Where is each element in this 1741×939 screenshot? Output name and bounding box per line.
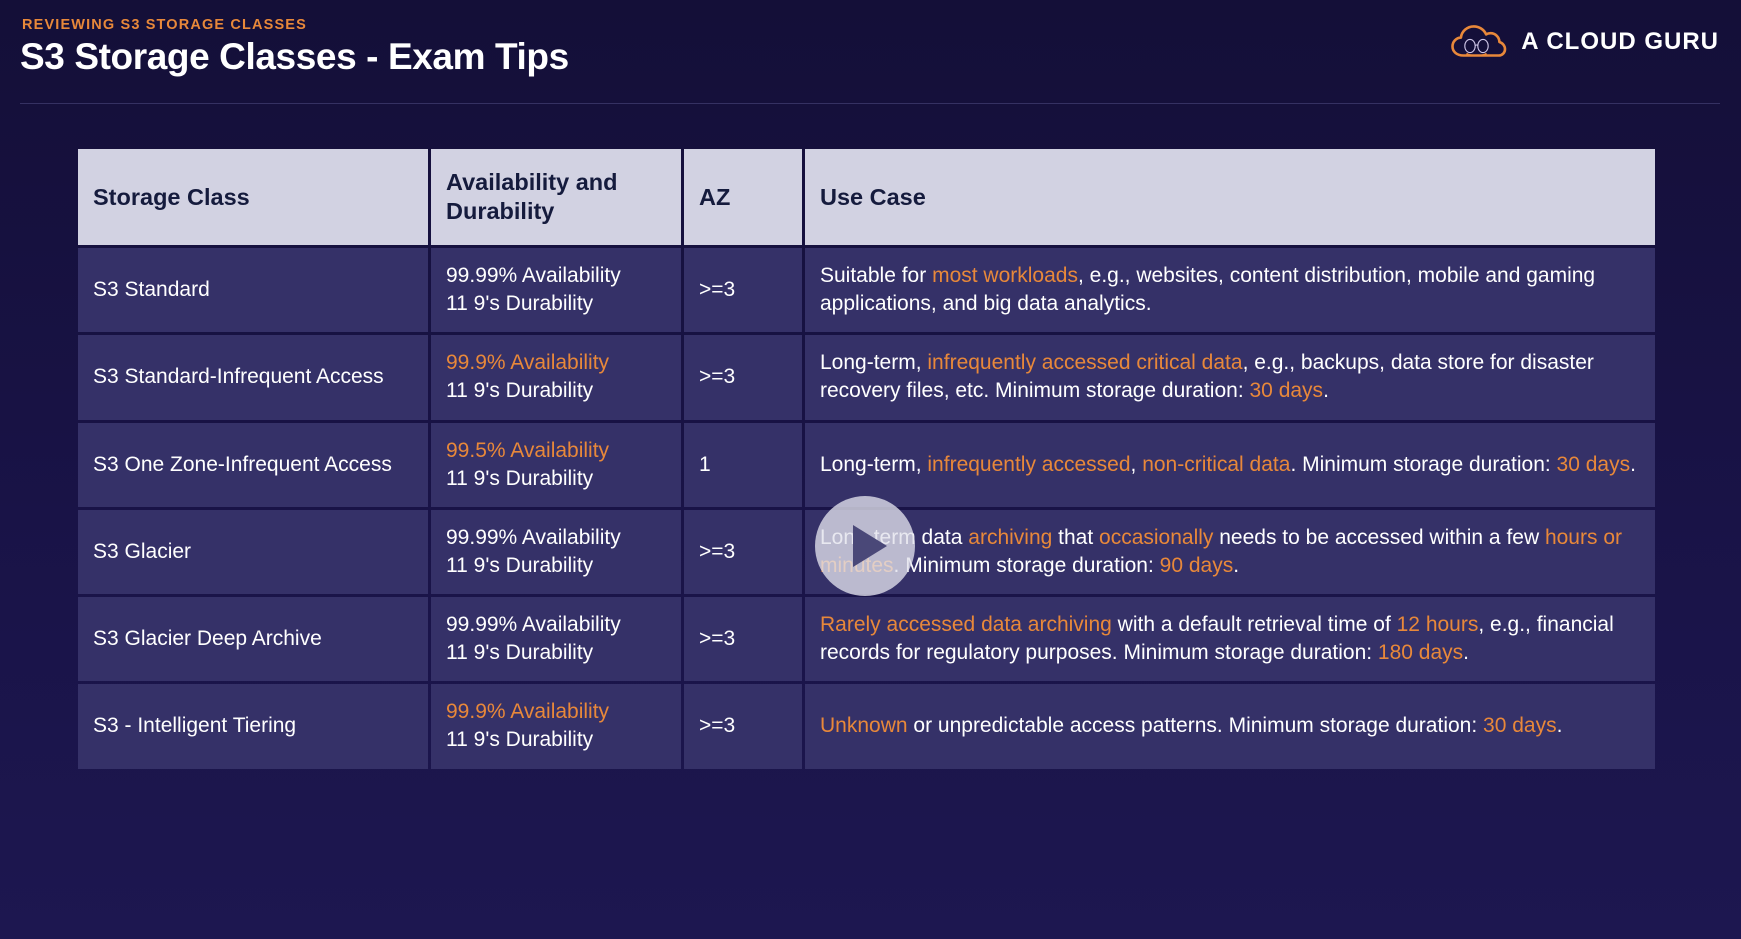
cell-az: 1 xyxy=(684,423,802,507)
use-case-highlight: Rarely accessed data archiving xyxy=(820,613,1112,636)
column-header-az: AZ xyxy=(684,149,802,245)
use-case-text: Long-term, xyxy=(820,453,927,476)
use-case-highlight: archiving xyxy=(968,526,1052,549)
availability-value: 99.99% Availability xyxy=(446,262,666,290)
page-title: S3 Storage Classes - Exam Tips xyxy=(20,36,569,78)
cell-storage-class: S3 Standard xyxy=(78,248,428,332)
durability-value: 11 9's Durability xyxy=(446,290,666,318)
use-case-text: . xyxy=(1323,379,1329,402)
use-case-text: . xyxy=(1557,714,1563,737)
cell-storage-class: S3 Glacier Deep Archive xyxy=(78,597,428,681)
use-case-text: . xyxy=(1630,453,1636,476)
cell-use-case: Long-term data archiving that occasional… xyxy=(805,510,1655,594)
cell-storage-class: S3 Glacier xyxy=(78,510,428,594)
storage-class-table-wrapper: Storage Class Availability and Durabilit… xyxy=(75,146,1655,772)
play-button[interactable] xyxy=(815,496,915,596)
brand-lockup: A CLOUD GURU xyxy=(1450,22,1719,62)
cell-use-case: Rarely accessed data archiving with a de… xyxy=(805,597,1655,681)
play-icon xyxy=(853,525,887,567)
use-case-text: . Minimum storage duration: xyxy=(894,554,1160,577)
cell-use-case: Long-term, infrequently accessed, non-cr… xyxy=(805,423,1655,507)
cell-storage-class: S3 - Intelligent Tiering xyxy=(78,684,428,768)
table-row: S3 Standard-Infrequent Access99.9% Avail… xyxy=(78,335,1655,419)
slide-eyebrow: REVIEWING S3 STORAGE CLASSES xyxy=(22,17,307,33)
table-row: S3 One Zone-Infrequent Access99.5% Avail… xyxy=(78,423,1655,507)
cell-availability-durability: 99.9% Availability11 9's Durability xyxy=(431,335,681,419)
use-case-text: Long-term, xyxy=(820,351,927,374)
use-case-highlight: Unknown xyxy=(820,714,908,737)
brand-name: A CLOUD GURU xyxy=(1521,28,1719,56)
use-case-text: with a default retrieval time of xyxy=(1112,613,1397,636)
header-divider xyxy=(20,103,1720,104)
column-header-storage-class: Storage Class xyxy=(78,149,428,245)
use-case-highlight: infrequently accessed critical data xyxy=(927,351,1242,374)
use-case-highlight: most workloads xyxy=(932,264,1078,287)
durability-value: 11 9's Durability xyxy=(446,726,666,754)
cell-use-case: Suitable for most workloads, e.g., websi… xyxy=(805,248,1655,332)
table-row: S3 - Intelligent Tiering99.9% Availabili… xyxy=(78,684,1655,768)
cell-availability-durability: 99.99% Availability11 9's Durability xyxy=(431,510,681,594)
use-case-text: . xyxy=(1463,641,1469,664)
use-case-highlight: 12 hours xyxy=(1397,613,1479,636)
cell-availability-durability: 99.99% Availability11 9's Durability xyxy=(431,248,681,332)
availability-value: 99.99% Availability xyxy=(446,611,666,639)
slide-header: REVIEWING S3 STORAGE CLASSES S3 Storage … xyxy=(0,0,1741,114)
durability-value: 11 9's Durability xyxy=(446,552,666,580)
durability-value: 11 9's Durability xyxy=(446,465,666,493)
use-case-text: . Minimum storage duration: xyxy=(1290,453,1556,476)
durability-value: 11 9's Durability xyxy=(446,639,666,667)
cell-availability-durability: 99.9% Availability11 9's Durability xyxy=(431,684,681,768)
use-case-highlight: non-critical data xyxy=(1142,453,1290,476)
use-case-text: , xyxy=(1131,453,1143,476)
cell-use-case: Unknown or unpredictable access patterns… xyxy=(805,684,1655,768)
use-case-highlight: 30 days xyxy=(1557,453,1631,476)
cell-az: >=3 xyxy=(684,684,802,768)
availability-value: 99.9% Availability xyxy=(446,698,666,726)
cell-availability-durability: 99.5% Availability11 9's Durability xyxy=(431,423,681,507)
column-header-use-case: Use Case xyxy=(805,149,1655,245)
cell-az: >=3 xyxy=(684,335,802,419)
use-case-text: or unpredictable access patterns. Minimu… xyxy=(908,714,1483,737)
availability-value: 99.5% Availability xyxy=(446,437,666,465)
column-header-availability-durability: Availability and Durability xyxy=(431,149,681,245)
cell-availability-durability: 99.99% Availability11 9's Durability xyxy=(431,597,681,681)
cell-storage-class: S3 Standard-Infrequent Access xyxy=(78,335,428,419)
use-case-text: that xyxy=(1052,526,1099,549)
slide-canvas: REVIEWING S3 STORAGE CLASSES S3 Storage … xyxy=(0,0,1741,939)
table-header-row: Storage Class Availability and Durabilit… xyxy=(78,149,1655,245)
availability-value: 99.9% Availability xyxy=(446,349,666,377)
table-header: Storage Class Availability and Durabilit… xyxy=(78,149,1655,245)
table-row: S3 Standard99.99% Availability11 9's Dur… xyxy=(78,248,1655,332)
cell-az: >=3 xyxy=(684,248,802,332)
table-row: S3 Glacier Deep Archive99.99% Availabili… xyxy=(78,597,1655,681)
use-case-text: Suitable for xyxy=(820,264,932,287)
cell-storage-class: S3 One Zone-Infrequent Access xyxy=(78,423,428,507)
availability-value: 99.99% Availability xyxy=(446,524,666,552)
use-case-highlight: 90 days xyxy=(1160,554,1234,577)
use-case-highlight: occasionally xyxy=(1099,526,1213,549)
durability-value: 11 9's Durability xyxy=(446,377,666,405)
cell-use-case: Long-term, infrequently accessed critica… xyxy=(805,335,1655,419)
storage-class-table: Storage Class Availability and Durabilit… xyxy=(75,146,1658,772)
use-case-highlight: 180 days xyxy=(1378,641,1463,664)
cell-az: >=3 xyxy=(684,510,802,594)
use-case-text: . xyxy=(1233,554,1239,577)
use-case-highlight: infrequently accessed xyxy=(927,453,1130,476)
cell-az: >=3 xyxy=(684,597,802,681)
use-case-highlight: 30 days xyxy=(1483,714,1557,737)
use-case-highlight: 30 days xyxy=(1250,379,1324,402)
cloud-guru-logo-icon xyxy=(1450,22,1508,62)
use-case-text: needs to be accessed within a few xyxy=(1213,526,1545,549)
